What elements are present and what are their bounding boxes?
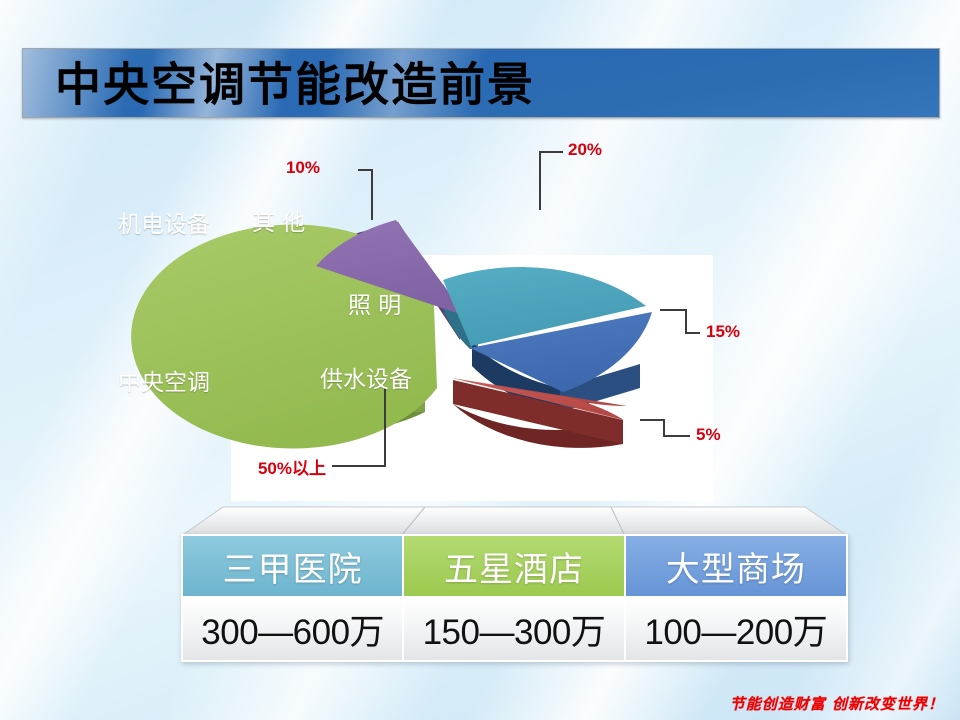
slide-canvas: 中央空调节能改造前景 — [0, 0, 960, 720]
footer-slogan: 节能创造财富 创新改变世界！ — [730, 693, 944, 714]
table-value-mall[interactable]: 100—200万 — [625, 597, 847, 661]
table-header-hospital[interactable]: 三甲医院 — [182, 535, 403, 597]
pie-percent-central-ac: 50%以上 — [258, 454, 326, 479]
comparison-table: 三甲医院 五星酒店 大型商场 300—600万 150—300万 100—200… — [163, 503, 863, 683]
pie-percent-lighting: 15% — [706, 322, 740, 342]
leader-line-lighting — [660, 310, 700, 333]
pie-percent-electromech: 10% — [286, 158, 320, 178]
leader-line-electromech — [358, 170, 372, 220]
leader-line-other — [540, 152, 563, 210]
pie-chart: 机电设备 其 他 照 明 供水设备 中央空调 20% 10% 15% 5% 50… — [0, 120, 960, 520]
table-row-values: 300—600万 150—300万 100—200万 — [182, 597, 847, 661]
pie-percent-water: 5% — [696, 425, 721, 445]
title-banner: 中央空调节能改造前景 — [22, 48, 940, 118]
pie-chart-svg — [0, 120, 960, 520]
page-title: 中央空调节能改造前景 — [55, 49, 535, 115]
pie-percent-other: 20% — [568, 140, 602, 160]
table-value-hospital[interactable]: 300—600万 — [182, 597, 403, 661]
table-header-hotel[interactable]: 五星酒店 — [403, 535, 624, 597]
table-header-mall[interactable]: 大型商场 — [625, 535, 847, 597]
leader-line-water — [640, 420, 690, 436]
table-grid: 三甲医院 五星酒店 大型商场 300—600万 150—300万 100—200… — [181, 534, 848, 662]
table-row-headers: 三甲医院 五星酒店 大型商场 — [182, 535, 847, 597]
table-value-hotel[interactable]: 150—300万 — [403, 597, 624, 661]
